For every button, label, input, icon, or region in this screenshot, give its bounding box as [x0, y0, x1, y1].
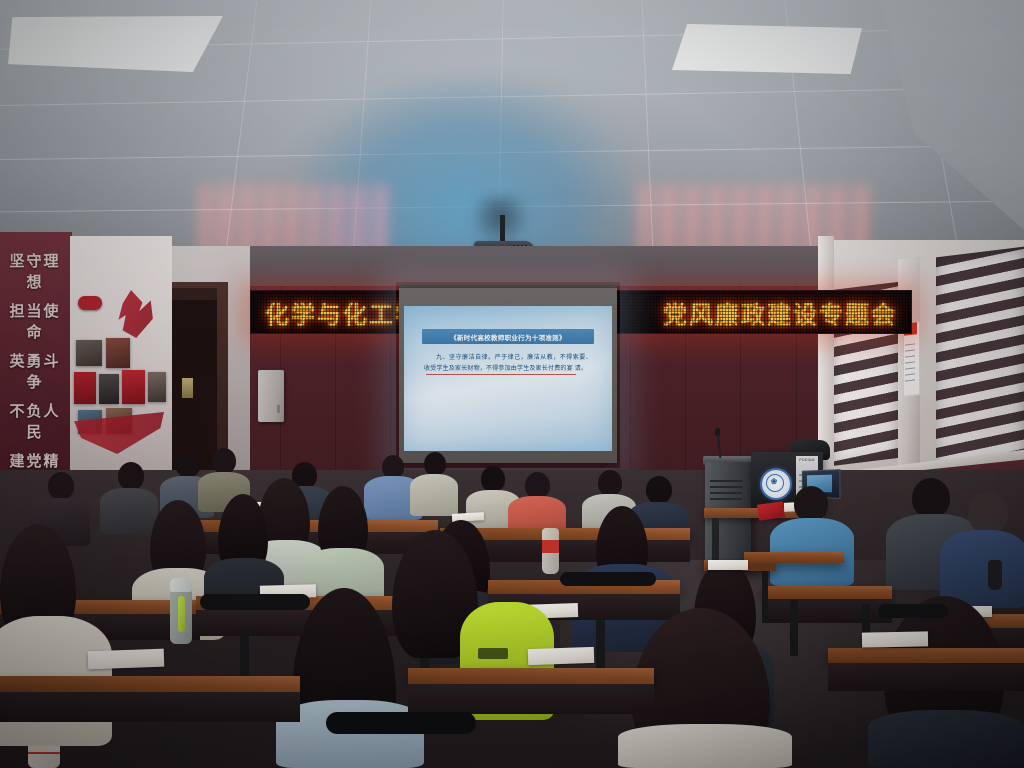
- jacket-logo: [478, 648, 508, 659]
- notebook-on-desk: [708, 560, 748, 570]
- led-banner-text-right: 党风廉政建设专题会: [663, 295, 897, 330]
- slide-underline: [426, 374, 576, 375]
- logo-badge: [78, 296, 102, 310]
- person-torso: [410, 474, 458, 516]
- chair-back: [200, 594, 310, 610]
- person-head: [481, 466, 505, 492]
- desk-row-mid: [744, 552, 844, 563]
- wall-box-indicator: [277, 405, 280, 413]
- dark-bottle: [988, 560, 1002, 590]
- chair-back: [878, 604, 948, 618]
- slide-body-line-3: 请。: [575, 366, 587, 372]
- party-slogan-2: 担当使命: [4, 300, 66, 342]
- zebra-blind-right[interactable]: [936, 247, 1024, 470]
- wall-photo-4: [148, 372, 166, 402]
- open-notebook: [88, 649, 165, 670]
- open-notebook: [862, 631, 928, 647]
- party-spirit-wall: 坚守理想 担当使命 英勇斗争 不负人民 建党精神: [0, 232, 72, 494]
- thermos-cap: [170, 578, 192, 592]
- slide-title: 《新时代高校教师职业行为十项准则》: [422, 329, 594, 344]
- ceiling-light-panel-right: [672, 24, 862, 74]
- chair-back: [326, 712, 476, 734]
- ceiling-light-panel-left: [8, 16, 223, 72]
- person-torso: [618, 724, 792, 768]
- person-head: [212, 448, 236, 474]
- person-head-gray: [968, 492, 1008, 534]
- desk-row-front: [408, 668, 654, 684]
- projection-screen: [404, 306, 612, 451]
- open-notebook: [528, 647, 595, 665]
- wall-plaque: [182, 378, 193, 398]
- classroom-photo: 坚守理想 担当使命 英勇斗争 不负人民 建党精神 化学与化工学院 党风廉政建设专…: [0, 0, 1024, 768]
- person-head: [912, 478, 950, 518]
- person-head: [118, 462, 144, 490]
- slide-body-text: 九、坚守廉洁自律。严于律己，廉洁从教，不得索要、 收受学生及家长财物，不得参加由…: [424, 353, 592, 375]
- person-head: [48, 472, 74, 500]
- person-head: [176, 452, 200, 478]
- desk-right: [762, 586, 892, 599]
- emblem-glyph: ❀: [767, 476, 781, 488]
- party-slogan-1: 坚守理想: [4, 250, 66, 292]
- person-head: [598, 470, 622, 496]
- desk-row-front: [828, 648, 1024, 663]
- wall-photo-2: [106, 338, 130, 368]
- bottle-label: [542, 540, 559, 553]
- chair-back: [560, 572, 656, 586]
- person-torso: [868, 710, 1024, 768]
- thermos-strap: [178, 596, 185, 632]
- person-head: [525, 472, 550, 499]
- person-head: [646, 476, 672, 504]
- microphone-icon: [715, 428, 720, 436]
- person-head: [424, 452, 446, 476]
- wall-photo-1: [76, 340, 102, 366]
- person-torso: [100, 488, 158, 534]
- party-slogan-3: 英勇斗争: [4, 350, 66, 392]
- lectern-panel-label: PODIUM: [798, 458, 816, 463]
- wall-poster-red-2: [122, 370, 145, 404]
- slide-body-line-1: 九、坚守廉洁自律。严于律己，廉洁从教，不得索要、: [436, 355, 592, 361]
- person-head: [794, 486, 828, 522]
- wall-mounted-speaker-box: [258, 370, 284, 422]
- wall-poster-red-1: [74, 372, 96, 404]
- slide-body-line-2: 收受学生及家长财物，不得参加由学生及家长付费的宴: [424, 366, 573, 372]
- party-slogan-4: 不负人民: [4, 400, 66, 442]
- desk-row-front: [0, 676, 300, 692]
- wall-photo-3: [99, 374, 119, 404]
